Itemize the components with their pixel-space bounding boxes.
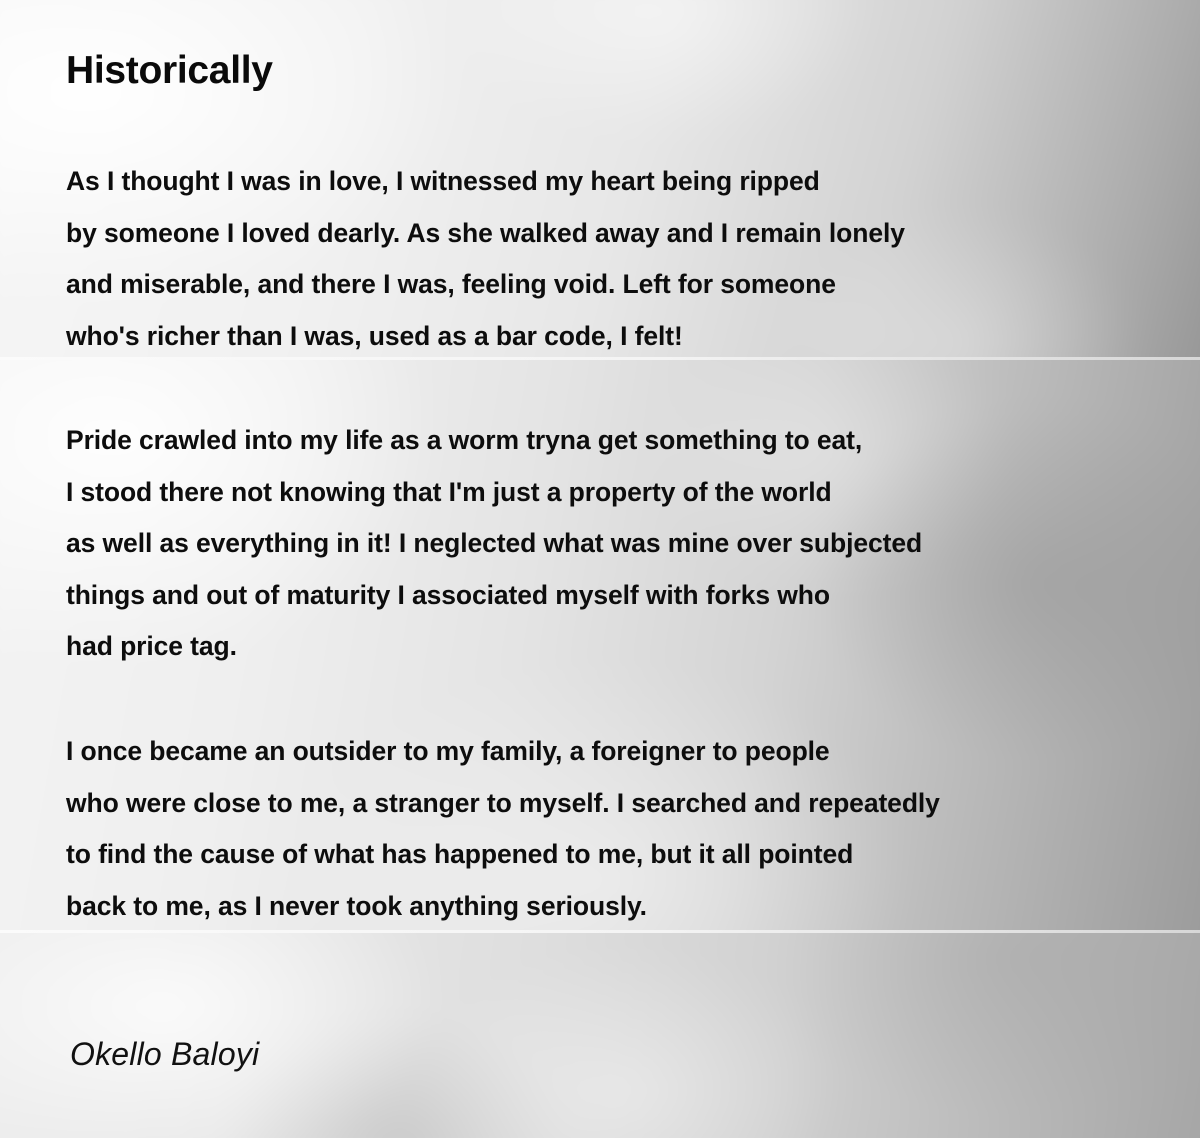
poem-line: things and out of maturity I associated … <box>66 570 922 622</box>
poem-line: back to me, as I never took anything ser… <box>66 881 940 933</box>
poem-line: by someone I loved dearly. As she walked… <box>66 208 905 260</box>
poem-line: who's richer than I was, used as a bar c… <box>66 311 905 363</box>
poem-stanza-2: Pride crawled into my life as a worm try… <box>66 415 922 673</box>
poem-line: had price tag. <box>66 621 922 673</box>
poem-line: Pride crawled into my life as a worm try… <box>66 415 922 467</box>
poem-author-signature: Okello Baloyi <box>70 1036 259 1073</box>
poem-line: and miserable, and there I was, feeling … <box>66 259 905 311</box>
page-title: Historically <box>66 48 273 94</box>
poem-line: who were close to me, a stranger to myse… <box>66 778 940 830</box>
poem-line: I stood there not knowing that I'm just … <box>66 467 922 519</box>
poem-content: Historically As I thought I was in love,… <box>0 0 1200 1138</box>
poem-stanza-1: As I thought I was in love, I witnessed … <box>66 156 905 362</box>
poem-line: As I thought I was in love, I witnessed … <box>66 156 905 208</box>
poem-stanza-3: I once became an outsider to my family, … <box>66 726 940 932</box>
poem-line: as well as everything in it! I neglected… <box>66 518 922 570</box>
poem-line: I once became an outsider to my family, … <box>66 726 940 778</box>
poem-image-card: Historically As I thought I was in love,… <box>0 0 1200 1138</box>
poem-line: to find the cause of what has happened t… <box>66 829 940 881</box>
